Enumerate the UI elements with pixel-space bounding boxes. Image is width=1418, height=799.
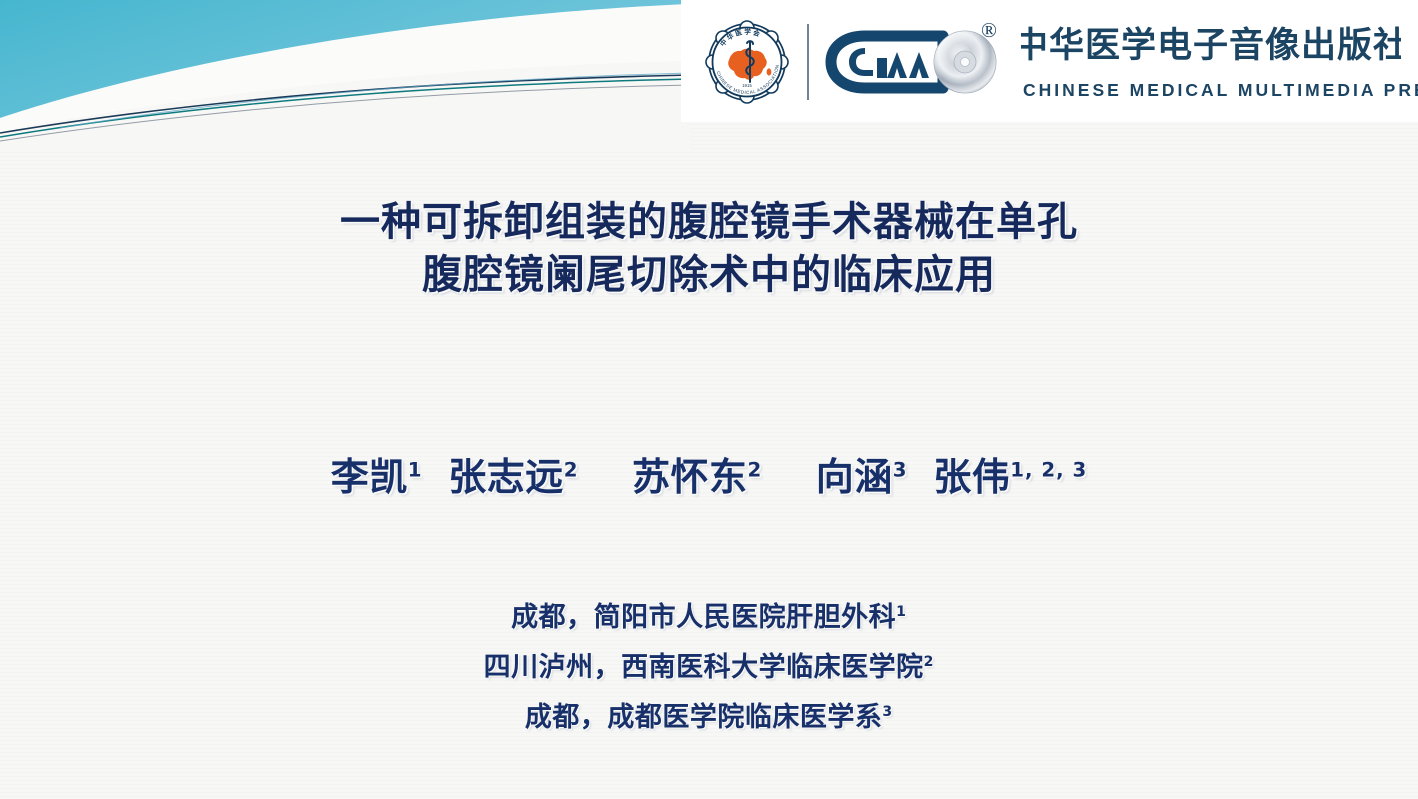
page-title: 一种可拆卸组装的腹腔镜手术器械在单孔 腹腔镜阑尾切除术中的临床应用 bbox=[0, 196, 1418, 302]
author-affiliation-mark: 1, 2, 3 bbox=[1010, 458, 1087, 481]
affiliation-mark: 3 bbox=[882, 704, 893, 720]
affiliation-text: 成都，简阳市人民医院肝胆外科 bbox=[511, 602, 896, 633]
affiliation-list: 成都，简阳市人民医院肝胆外科1 四川泸州，西南医科大学临床医学院2 成都，成都医… bbox=[0, 590, 1418, 740]
author-affiliation-mark: 2 bbox=[748, 458, 763, 481]
affiliation-item: 成都，成都医学院临床医学系3 bbox=[0, 690, 1418, 740]
affiliation-mark: 1 bbox=[896, 604, 907, 620]
author-affiliation-mark: 2 bbox=[564, 458, 579, 481]
title-line-2: 腹腔镜阑尾切除术中的临床应用 bbox=[0, 249, 1418, 302]
title-line-1: 一种可拆卸组装的腹腔镜手术器械在单孔 bbox=[0, 196, 1418, 249]
author-name: 张志远 bbox=[448, 455, 564, 499]
affiliation-item: 成都，简阳市人民医院肝胆外科1 bbox=[0, 590, 1418, 640]
affiliation-item: 四川泸州，西南医科大学临床医学院2 bbox=[0, 640, 1418, 690]
presentation-title-slide: 中 华 医 学 会 CHINESE MEDICAL ASSOCIATION 19… bbox=[0, 0, 1418, 799]
author-affiliation-mark: 1 bbox=[408, 458, 423, 481]
author-item: 向涵3 bbox=[816, 455, 908, 499]
author-name: 向涵 bbox=[816, 455, 893, 499]
author-list: 李凯1 张志远2 苏怀东2 向涵3 张伟1, 2, 3 bbox=[0, 446, 1418, 501]
author-name: 张伟 bbox=[933, 455, 1010, 499]
author-item: 李凯1 bbox=[331, 455, 423, 499]
author-name: 李凯 bbox=[331, 455, 408, 499]
author-item: 苏怀东2 bbox=[632, 455, 762, 499]
slide-content: 一种可拆卸组装的腹腔镜手术器械在单孔 腹腔镜阑尾切除术中的临床应用 李凯1 张志… bbox=[0, 0, 1418, 799]
author-item: 张志远2 bbox=[448, 455, 578, 499]
author-name: 苏怀东 bbox=[632, 455, 748, 499]
affiliation-mark: 2 bbox=[924, 654, 935, 670]
affiliation-text: 四川泸州，西南医科大学临床医学院 bbox=[484, 652, 924, 683]
affiliation-text: 成都，成都医学院临床医学系 bbox=[525, 702, 883, 733]
author-item: 张伟1, 2, 3 bbox=[933, 455, 1087, 499]
author-affiliation-mark: 3 bbox=[893, 458, 908, 481]
